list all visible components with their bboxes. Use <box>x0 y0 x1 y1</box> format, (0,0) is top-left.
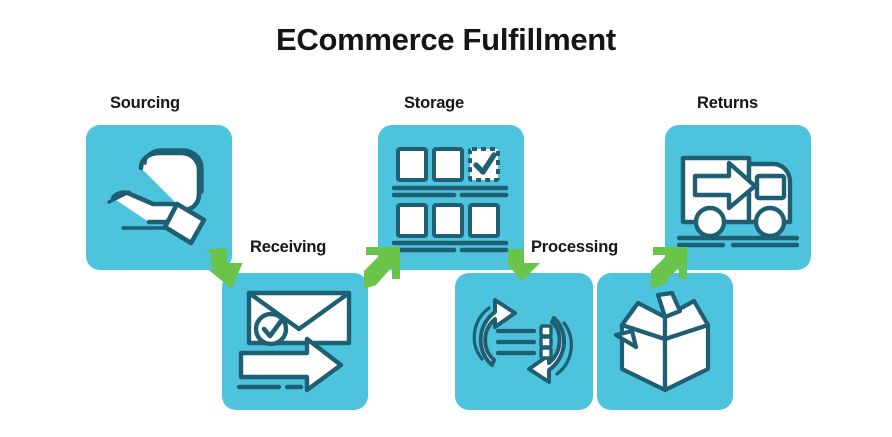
handshake-hand-icon <box>103 146 215 250</box>
connector-storage-to-processing <box>500 243 556 295</box>
cycle-checklist-icon <box>468 287 580 397</box>
envelope-check-arrow-icon <box>235 287 355 397</box>
warehouse-shelf-boxes-icon <box>392 143 510 253</box>
infographic-canvas: ECommerce Fulfillment Sourcing Storage R… <box>0 0 892 437</box>
step-label-storage: Storage <box>404 94 464 113</box>
open-box-icon <box>610 287 720 397</box>
page-title: ECommerce Fulfillment <box>0 22 892 58</box>
connector-sourcing-to-receiving <box>203 243 259 295</box>
delivery-truck-arrow-icon <box>677 146 799 250</box>
connector-receiving-to-storage <box>354 243 410 295</box>
step-label-receiving: Receiving <box>250 238 326 257</box>
step-label-sourcing: Sourcing <box>110 94 180 113</box>
connector-packing-to-returns <box>641 243 697 295</box>
step-label-returns: Returns <box>697 94 758 113</box>
